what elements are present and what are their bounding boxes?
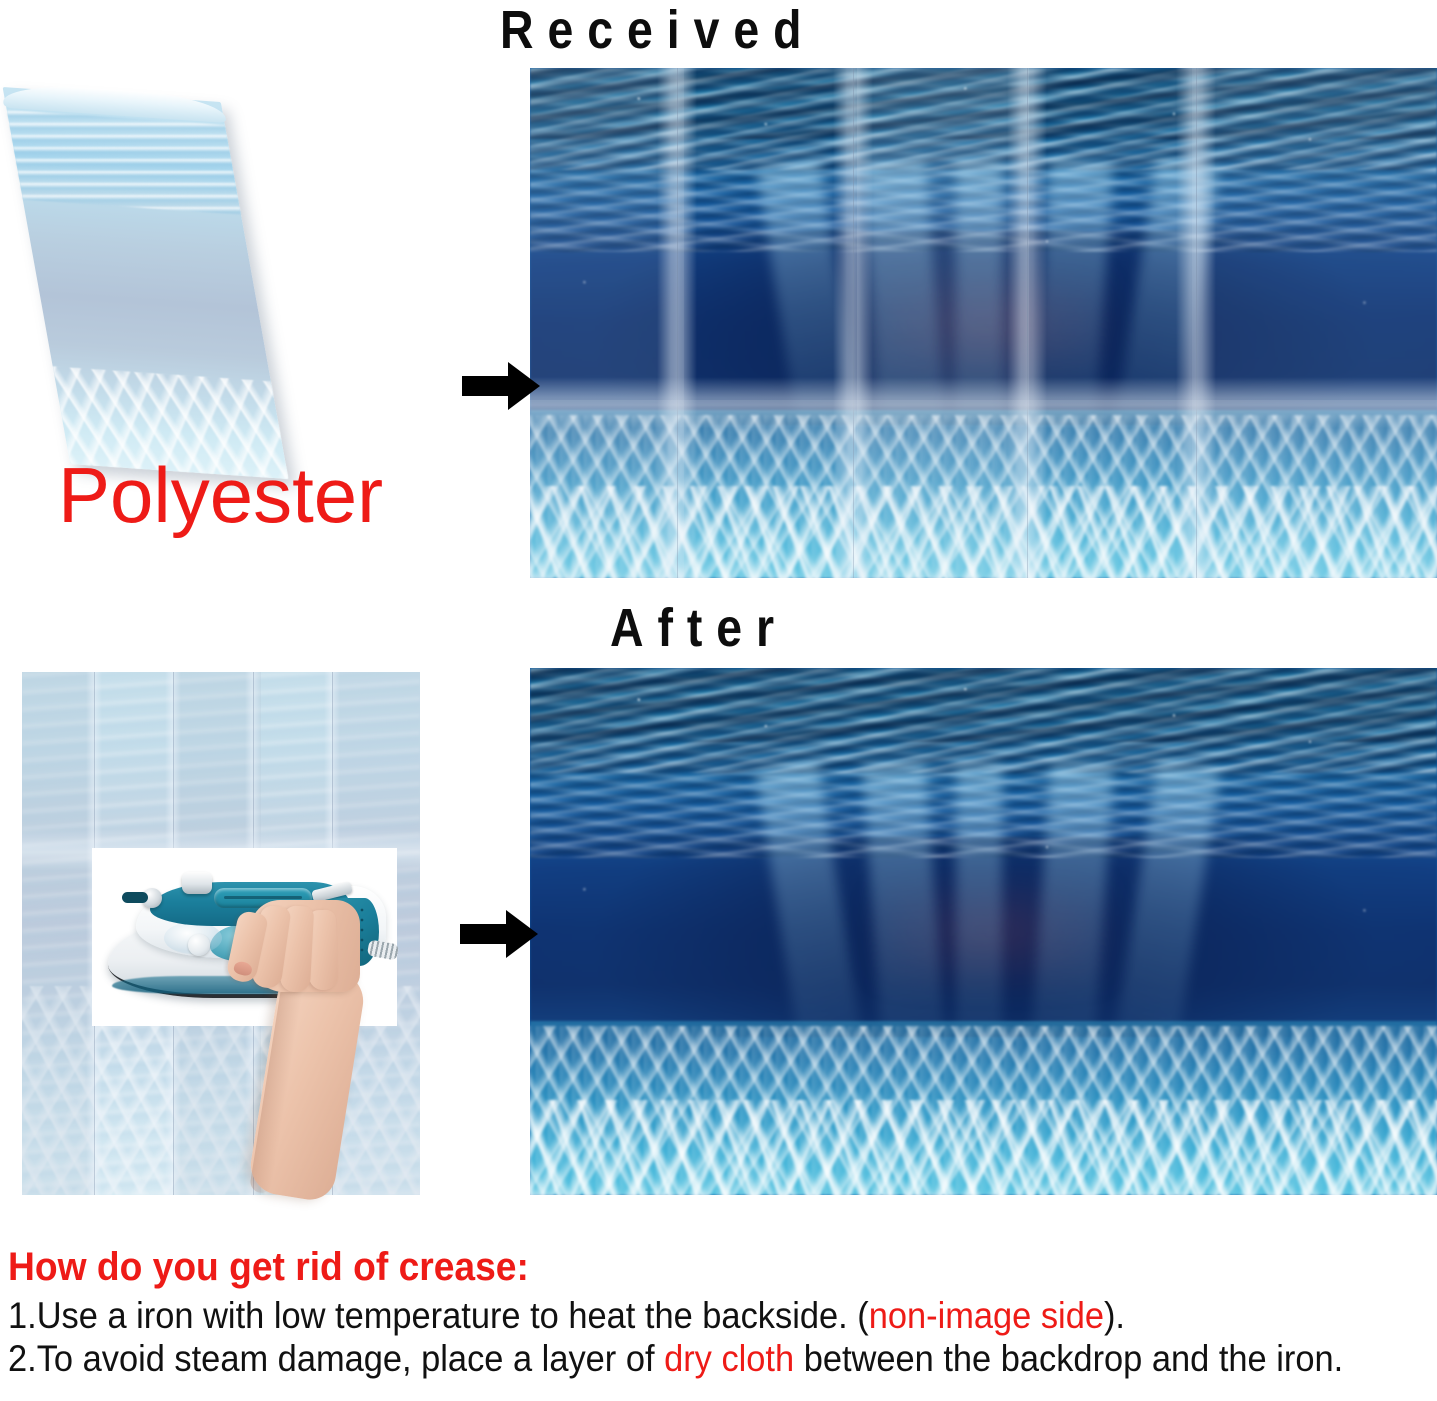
instruction-line-2-highlight: dry cloth bbox=[664, 1338, 794, 1379]
hand-holding-iron bbox=[92, 848, 422, 1196]
bubble-specks bbox=[530, 668, 1437, 1195]
instruction-line-2-suffix: between the backdrop and the iron. bbox=[794, 1338, 1343, 1379]
after-section-title: After bbox=[610, 600, 788, 656]
swatch-ripple-texture-top bbox=[7, 110, 241, 215]
instructions-heading: How do you get rid of crease: bbox=[8, 1244, 1337, 1290]
instruction-line-1-highlight: non-image side bbox=[869, 1295, 1104, 1336]
scene-layers bbox=[530, 68, 1437, 578]
right-arrow-icon bbox=[458, 906, 540, 962]
instruction-line-1: 1.Use a iron with low temperature to hea… bbox=[8, 1294, 1337, 1337]
care-instructions: How do you get rid of crease: 1.Use a ir… bbox=[8, 1244, 1437, 1380]
instruction-line-2: 2.To avoid steam damage, place a layer o… bbox=[8, 1337, 1337, 1380]
underwater-backdrop-creased bbox=[530, 68, 1437, 578]
instruction-line-1-prefix: 1.Use a iron with low temperature to hea… bbox=[8, 1295, 869, 1336]
instruction-line-2-prefix: 2.To avoid steam damage, place a layer o… bbox=[8, 1338, 664, 1379]
swatch-sheet bbox=[3, 87, 289, 479]
instruction-line-1-suffix: ). bbox=[1104, 1295, 1125, 1336]
bubble-specks bbox=[530, 68, 1437, 578]
right-arrow-icon bbox=[460, 358, 542, 414]
scene-layers bbox=[530, 668, 1437, 1195]
polyester-fabric-swatch bbox=[10, 80, 430, 480]
polyester-material-label: Polyester bbox=[58, 455, 383, 535]
underwater-backdrop-smooth bbox=[530, 668, 1437, 1195]
received-section-title: Received bbox=[500, 2, 815, 58]
